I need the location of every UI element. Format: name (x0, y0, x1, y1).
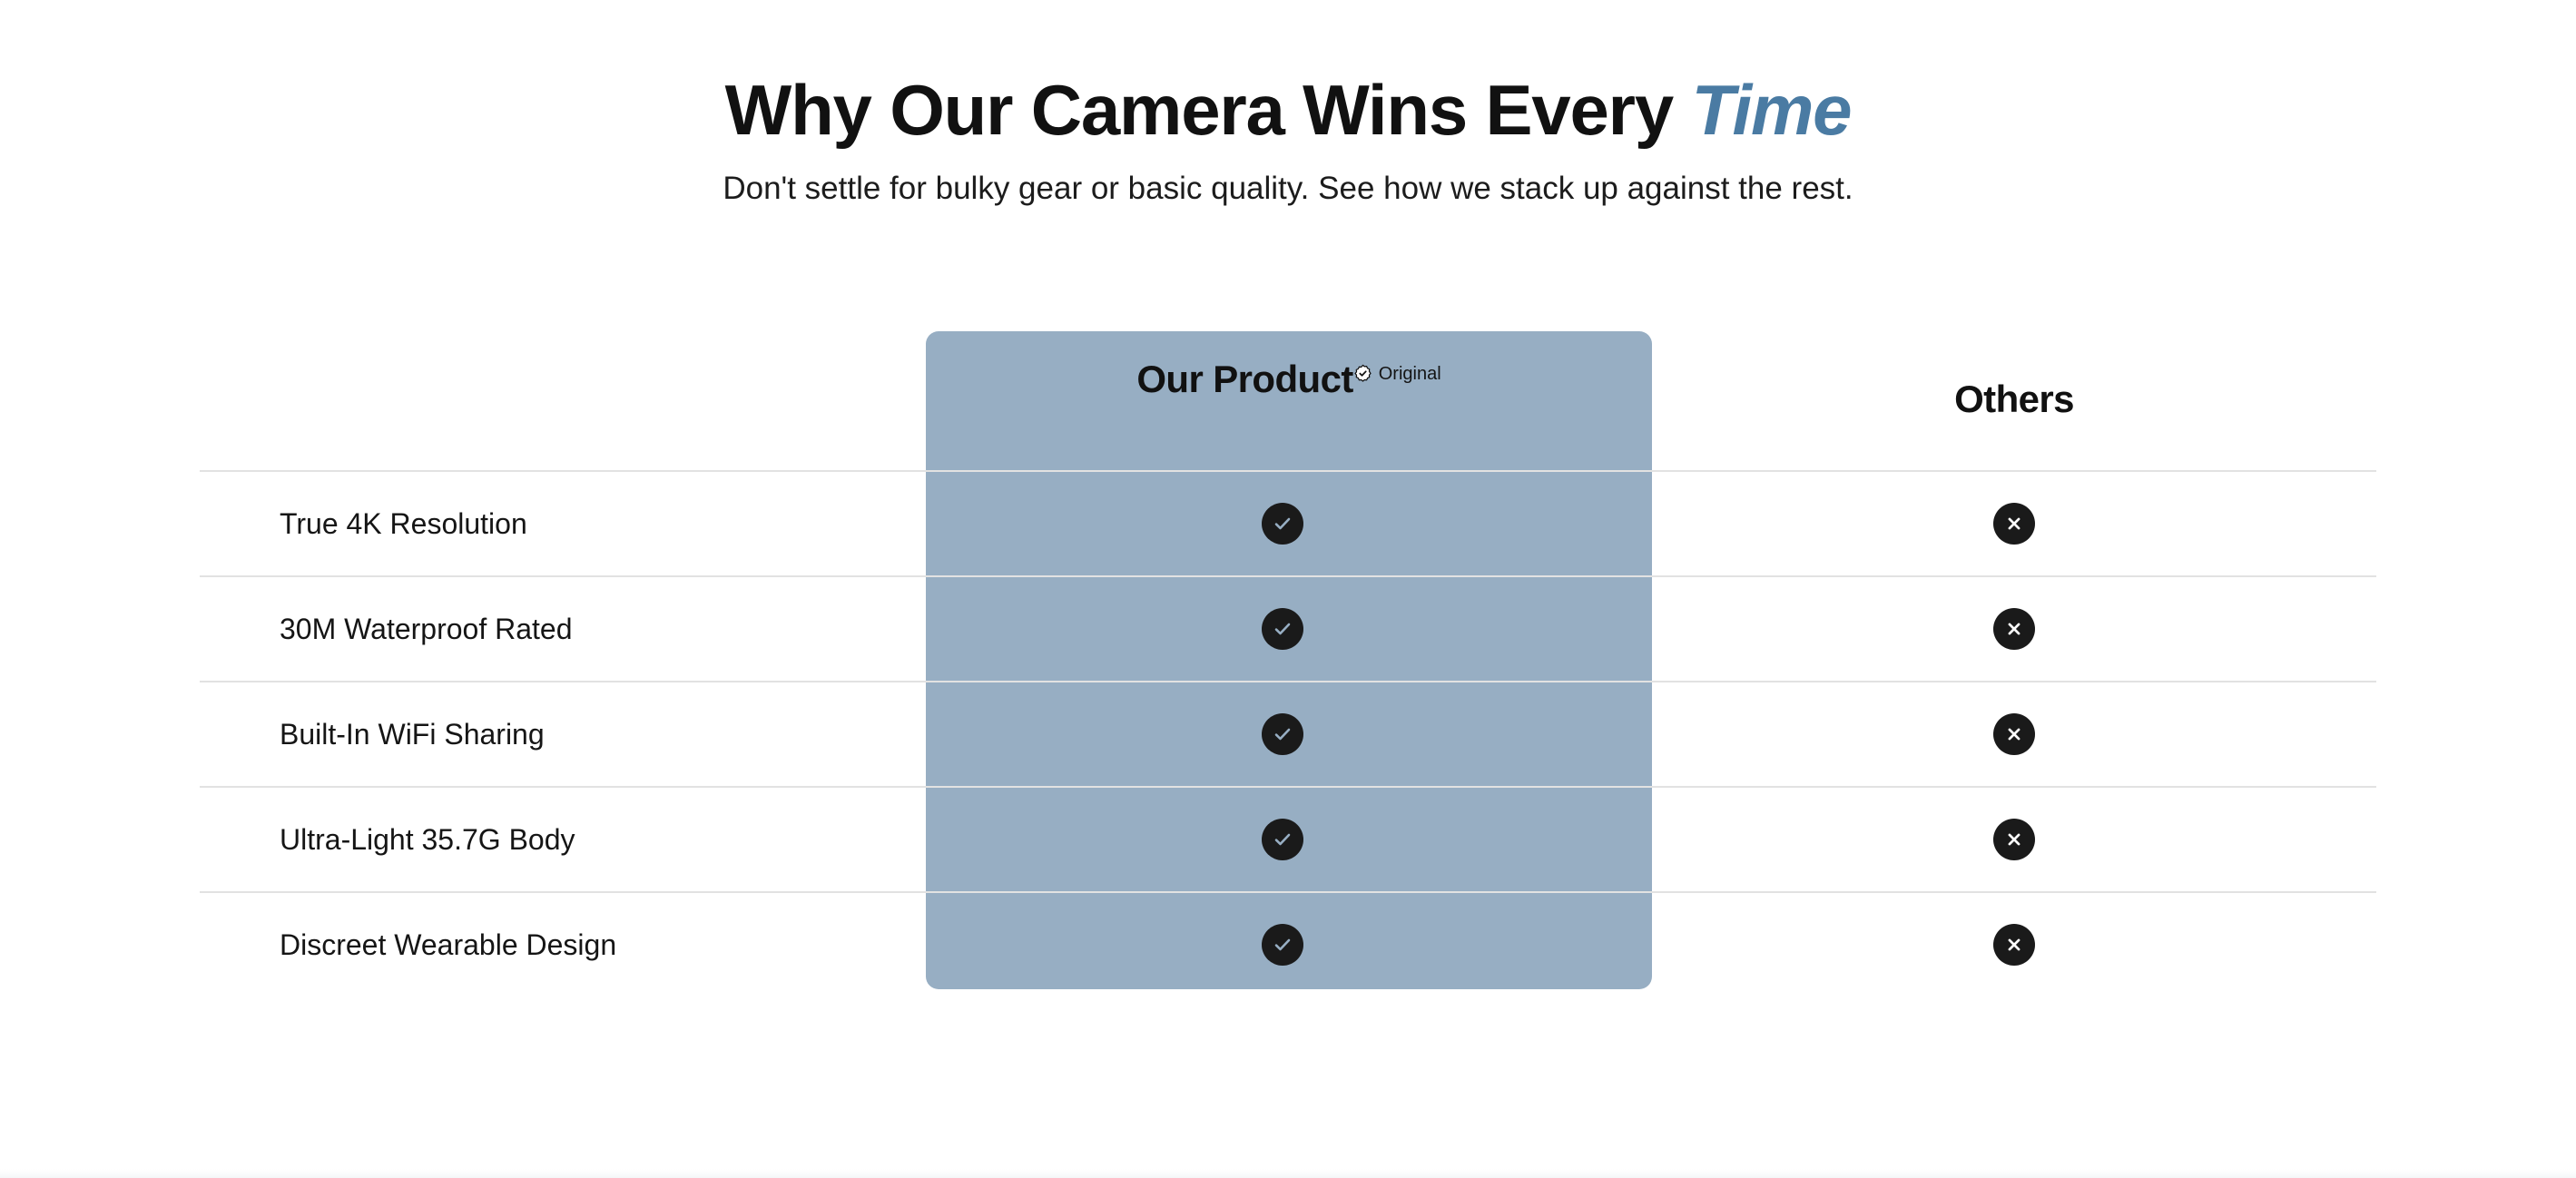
cross-circle-icon (1993, 713, 2035, 755)
page-header: Why Our Camera Wins Every Time Don't set… (0, 0, 2576, 209)
others-cell (1652, 819, 2376, 860)
page-title: Why Our Camera Wins Every Time (0, 0, 2576, 145)
table-row: 30M Waterproof Rated (200, 575, 2376, 681)
check-circle-icon (1262, 819, 1303, 860)
feature-cell: Ultra-Light 35.7G Body (200, 822, 926, 857)
feature-label: True 4K Resolution (280, 506, 527, 541)
feature-label: Ultra-Light 35.7G Body (280, 822, 575, 857)
check-circle-icon (1262, 503, 1303, 545)
others-cell (1652, 924, 2376, 966)
table-row: Ultra-Light 35.7G Body (200, 786, 2376, 891)
feature-cell: True 4K Resolution (200, 506, 926, 541)
check-circle-icon (1262, 713, 1303, 755)
column-header-our-product: Our Product Original (926, 331, 1652, 398)
comparison-table-header-row: Our Product Original Others (200, 331, 2376, 470)
our-product-cell (926, 608, 1652, 650)
page-subtitle: Don't settle for bulky gear or basic qua… (0, 145, 2576, 209)
feature-cell: 30M Waterproof Rated (200, 612, 926, 646)
table-row: Discreet Wearable Design (200, 891, 2376, 996)
check-circle-icon (1262, 924, 1303, 966)
original-badge: Original (1353, 364, 1441, 383)
feature-label: Discreet Wearable Design (280, 928, 616, 962)
check-circle-icon (1262, 608, 1303, 650)
cross-circle-icon (1993, 924, 2035, 966)
feature-label: Built-In WiFi Sharing (280, 717, 545, 751)
cross-circle-icon (1993, 819, 2035, 860)
comparison-table-body: True 4K Resolution 30M Water (200, 470, 2376, 996)
others-cell (1652, 503, 2376, 545)
others-cell (1652, 608, 2376, 650)
feature-label: 30M Waterproof Rated (280, 612, 573, 646)
our-product-title: Our Product (1136, 331, 1352, 398)
our-product-cell (926, 819, 1652, 860)
column-header-others: Others (1652, 331, 2376, 418)
page-title-main: Why Our Camera Wins Every (725, 70, 1692, 150)
feature-cell: Built-In WiFi Sharing (200, 717, 926, 751)
page-bottom-divider (0, 1169, 2576, 1178)
table-row: True 4K Resolution (200, 470, 2376, 575)
table-row: Built-In WiFi Sharing (200, 681, 2376, 786)
original-badge-label: Original (1379, 365, 1441, 383)
cross-circle-icon (1993, 503, 2035, 545)
others-cell (1652, 713, 2376, 755)
page-title-accent: Time (1691, 70, 1851, 150)
cross-circle-icon (1993, 608, 2035, 650)
verified-badge-icon (1353, 364, 1372, 383)
feature-cell: Discreet Wearable Design (200, 928, 926, 962)
comparison-table: Our Product Original Others True 4K Reso… (200, 331, 2376, 989)
our-product-cell (926, 713, 1652, 755)
others-title: Others (1954, 331, 2074, 418)
our-product-cell (926, 924, 1652, 966)
our-product-cell (926, 503, 1652, 545)
